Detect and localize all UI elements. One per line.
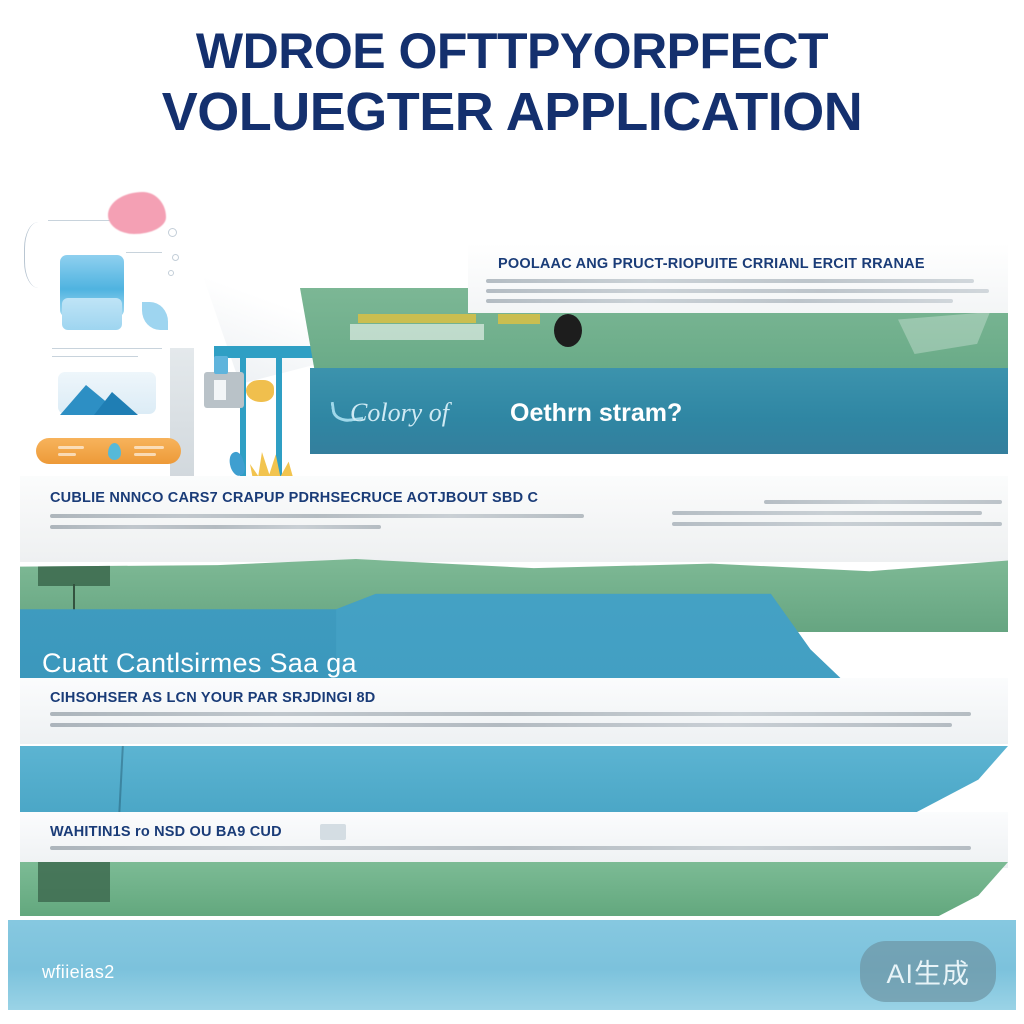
footer-text: wfiieias2 xyxy=(42,962,115,983)
body-text-line xyxy=(486,279,974,283)
content-card-4: WAHITIN1S ro NSD OU BA9 CUD xyxy=(20,812,1008,868)
tool-blue-shape xyxy=(214,356,228,374)
ring-icon xyxy=(168,228,177,237)
orange-bar-mark xyxy=(58,453,76,456)
decor-line xyxy=(48,220,118,221)
orange-bar-shape xyxy=(36,438,181,464)
card-top-body xyxy=(486,279,994,309)
body-text-line xyxy=(486,299,953,303)
dark-ellipse-shape xyxy=(554,314,582,347)
body-text-line xyxy=(50,525,381,529)
dark-green-block xyxy=(38,862,110,902)
divider-line xyxy=(118,746,123,816)
translucent-flap-shape xyxy=(898,312,990,354)
yellow-strip xyxy=(498,314,540,324)
body-text-line xyxy=(486,289,989,293)
yellow-strip xyxy=(358,314,476,323)
leaf-icon xyxy=(142,302,168,330)
body-text-line xyxy=(672,522,1002,526)
blue-band-lower xyxy=(20,746,1008,816)
card-2-body xyxy=(50,514,630,536)
right-text-column xyxy=(672,500,1002,533)
orange-bar-mark xyxy=(134,453,156,456)
body-text-line xyxy=(50,514,584,518)
card-4-body xyxy=(50,846,980,857)
ring-icon xyxy=(168,270,174,276)
card-3-body xyxy=(50,712,980,734)
decor-line xyxy=(126,252,162,253)
pink-blob-icon xyxy=(108,192,166,234)
content-card-3: CIHSOHSER AS LCN YOUR PAR SRJDINGI 8D xyxy=(20,678,1008,744)
curve-line-decor xyxy=(24,222,60,288)
decor-line xyxy=(52,356,138,357)
body-text-line xyxy=(764,500,1002,504)
teal-banner: Colory of Oethrn stram? xyxy=(310,368,1008,454)
card-3-heading: CIHSOHSER AS LCN YOUR PAR SRJDINGI 8D xyxy=(50,690,375,706)
page-title: WDROE OFTTPYORPFECT VOLUEGTER APPLICATIO… xyxy=(0,22,1024,145)
teal-banner-bold-text: Oethrn stram? xyxy=(510,399,682,428)
tool-white-shape xyxy=(214,380,226,400)
card-top-heading: POOLAAC ANG PRUCT-RIOPUITE CRRIANL ERCIT… xyxy=(498,256,925,272)
orange-bar-mark xyxy=(134,446,164,449)
decor-line xyxy=(52,348,162,349)
body-text-line xyxy=(50,712,971,716)
wave-caption: Cuatt Cantlsirmes Saa ga xyxy=(42,648,357,679)
yellow-blob-icon xyxy=(246,380,274,402)
content-card-top: POOLAAC ANG PRUCT-RIOPUITE CRRIANL ERCIT… xyxy=(468,243,1008,313)
body-text-line xyxy=(672,511,982,515)
tag-badge xyxy=(320,824,346,840)
green-band-bottom xyxy=(20,862,1008,916)
card-4-heading: WAHITIN1S ro NSD OU BA9 CUD xyxy=(50,824,282,840)
water-drop-icon xyxy=(108,443,121,460)
white-strip xyxy=(350,324,484,340)
grey-column-shape xyxy=(170,348,194,494)
title-line-2: VOLUEGTER APPLICATION xyxy=(0,81,1024,145)
ring-icon xyxy=(172,254,179,261)
orange-bar-mark xyxy=(58,446,84,449)
card-2-heading: CUBLIE NNNCO CARS7 CRAPUP PDRHSECRUCE AO… xyxy=(50,490,538,506)
ai-generated-watermark: AI生成 xyxy=(860,941,996,1002)
mountain-peak-icon xyxy=(94,392,138,415)
body-text-line xyxy=(50,723,952,727)
body-text-line xyxy=(50,846,971,850)
title-line-1: WDROE OFTTPYORPFECT xyxy=(0,22,1024,81)
blue-card-shape-lower xyxy=(62,298,122,330)
teal-banner-script-text: Colory of xyxy=(350,398,449,428)
